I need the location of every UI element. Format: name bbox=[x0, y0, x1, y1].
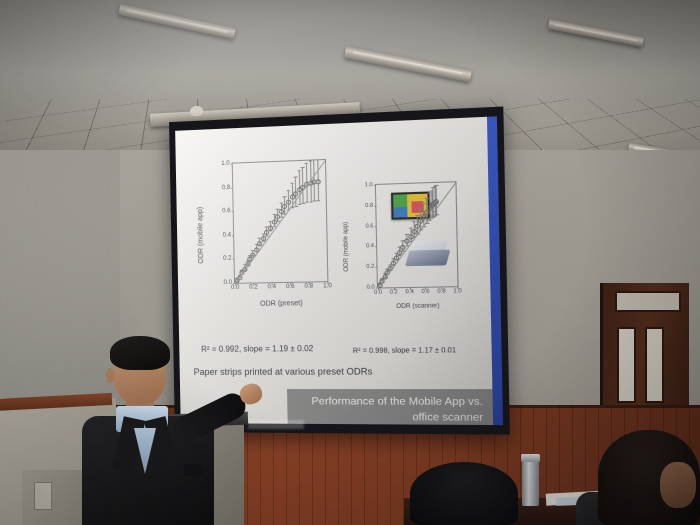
chart-error-bar-cap bbox=[430, 217, 434, 218]
chart-y-axis-label: ODR (mobile app) bbox=[343, 222, 350, 272]
chart-plot-area: 0.00.20.40.60.81.00.00.20.40.60.81.0 bbox=[232, 159, 329, 284]
chart-x-tick-label: 0.2 bbox=[390, 289, 398, 295]
door-glass-pane bbox=[617, 327, 636, 403]
chart-y-tick-mark bbox=[230, 164, 233, 165]
chart-error-bar-cap bbox=[294, 177, 298, 178]
chart-x-tick-label: 0.2 bbox=[249, 284, 258, 290]
slide-title-banner: Performance of the Mobile App vs. office… bbox=[287, 389, 493, 425]
chart-x-tick-mark bbox=[327, 281, 328, 284]
chart-error-bar-cap bbox=[287, 190, 291, 191]
chart-odr-preset: ODR (mobile app) ODR (preset) 0.00.20.40… bbox=[202, 155, 336, 311]
thermos-flask bbox=[522, 458, 539, 506]
chart-error-bar-cap bbox=[435, 214, 439, 215]
lecture-hall-photo: ODR (mobile app) ODR (preset) 0.00.20.40… bbox=[0, 0, 700, 525]
chart-error-bar-cap bbox=[434, 185, 438, 186]
chart-y-tick-label: 1.0 bbox=[221, 161, 230, 167]
presentation-clicker[interactable] bbox=[184, 464, 202, 476]
chart-right-statistics: R² = 0.998, slope = 1.17 ± 0.01 bbox=[353, 347, 456, 355]
chart-odr-scanner: ODR (mobile app) ODR (scanner) bbox=[347, 177, 465, 313]
chart-plot-area: 0.00.20.40.60.81.00.00.20.40.60.81.0 bbox=[375, 181, 459, 288]
chart-y-tick-label: 0.4 bbox=[223, 232, 232, 238]
chart-error-bar-cap bbox=[279, 203, 282, 204]
chart-error-bar-cap bbox=[290, 183, 294, 184]
chart-error-bar-cap bbox=[309, 202, 313, 203]
screen-roller-bracket bbox=[190, 106, 204, 117]
chart-x-tick-mark bbox=[394, 287, 395, 290]
chart-error-bar-cap bbox=[294, 206, 298, 207]
audience-member-head bbox=[410, 462, 518, 525]
chart-error-bar-cap bbox=[302, 203, 306, 204]
chart-x-tick-label: 0.0 bbox=[374, 290, 382, 296]
chart-x-tick-label: 0.6 bbox=[286, 284, 295, 290]
chart-y-axis-label: ODR (mobile app) bbox=[197, 207, 205, 264]
chart-y-tick-mark bbox=[375, 267, 378, 268]
lectern-faint-label bbox=[248, 420, 304, 429]
chart-x-tick-label: 0.4 bbox=[405, 289, 413, 295]
lectern-control-panel[interactable] bbox=[34, 482, 52, 510]
chart-error-bar-cap bbox=[432, 216, 436, 217]
thermos-cap bbox=[521, 454, 540, 462]
chart-data-point bbox=[315, 179, 320, 184]
chart-error-bar-cap bbox=[412, 221, 416, 222]
chart-y-tick-label: 0.6 bbox=[365, 223, 373, 229]
chart-error-bar-cap bbox=[433, 215, 437, 216]
chart-x-axis-label: ODR (scanner) bbox=[377, 303, 459, 310]
chart-y-tick-label: 0.2 bbox=[366, 264, 374, 270]
chart-reference-line bbox=[235, 160, 326, 283]
chart-y-tick-label: 0.8 bbox=[365, 202, 373, 208]
presenter-hair bbox=[110, 336, 170, 370]
chart-data-point bbox=[286, 199, 291, 204]
chart-x-tick-label: 0.8 bbox=[304, 283, 313, 289]
chart-error-bar-cap bbox=[308, 161, 312, 162]
chart-error-bar-cap bbox=[317, 200, 321, 201]
chart-x-tick-mark bbox=[309, 281, 310, 284]
chart-y-tick-label: 0.4 bbox=[366, 243, 374, 249]
audience-member-face bbox=[660, 462, 696, 508]
banner-line-2: office scanner bbox=[287, 410, 483, 425]
chart-x-tick-mark bbox=[290, 282, 291, 285]
chart-x-tick-mark bbox=[425, 287, 426, 290]
chart-x-axis-label: ODR (preset) bbox=[234, 300, 329, 308]
chart-x-tick-label: 0.0 bbox=[231, 285, 240, 291]
presenter bbox=[78, 336, 228, 525]
chart-x-tick-label: 0.8 bbox=[437, 288, 445, 294]
chart-x-tick-mark bbox=[457, 286, 458, 289]
chart-y-tick-label: 0.2 bbox=[223, 256, 232, 262]
chart-error-bar-cap bbox=[305, 163, 309, 164]
chart-x-tick-mark bbox=[441, 286, 442, 289]
chart-error-bar-cap bbox=[301, 167, 305, 168]
chart-x-tick-label: 1.0 bbox=[453, 288, 461, 294]
chart-error-bar-cap bbox=[316, 159, 320, 160]
chart-error-bar-cap bbox=[422, 203, 426, 204]
chart-error-bar-cap bbox=[416, 214, 420, 215]
chart-y-tick-mark bbox=[374, 205, 377, 206]
chart-x-tick-label: 1.0 bbox=[323, 283, 332, 289]
chart-x-tick-mark bbox=[410, 287, 411, 290]
chart-x-tick-mark bbox=[272, 282, 273, 285]
chart-error-bar-cap bbox=[419, 208, 423, 209]
chart-x-tick-label: 0.6 bbox=[421, 289, 429, 295]
chart-y-tick-label: 0.8 bbox=[222, 185, 231, 191]
chart-y-tick-mark bbox=[232, 259, 235, 260]
chart-y-tick-mark bbox=[374, 226, 377, 227]
chart-x-tick-mark bbox=[253, 283, 254, 286]
door-glass-pane bbox=[645, 327, 664, 403]
office-scanner-inset bbox=[407, 238, 451, 270]
chart-y-tick-label: 0.6 bbox=[222, 208, 231, 214]
chart-error-bar-cap bbox=[298, 204, 302, 205]
chart-x-tick-label: 0.4 bbox=[267, 284, 276, 290]
presenter-ear bbox=[106, 368, 115, 383]
chart-y-tick-mark bbox=[231, 211, 234, 212]
chart-y-tick-mark bbox=[232, 235, 235, 236]
door-transom-window bbox=[615, 291, 681, 312]
chart-y-tick-label: 1.0 bbox=[365, 182, 373, 188]
banner-line-1: Performance of the Mobile App vs. bbox=[287, 394, 483, 410]
slide-figure-area: ODR (mobile app) ODR (preset) 0.00.20.40… bbox=[176, 140, 502, 341]
chart-y-tick-mark bbox=[375, 246, 378, 247]
chart-error-bar-cap bbox=[297, 171, 301, 172]
chart-error-bar-cap bbox=[283, 196, 286, 197]
chart-y-tick-mark bbox=[231, 187, 234, 188]
chart-y-tick-mark bbox=[373, 185, 376, 186]
